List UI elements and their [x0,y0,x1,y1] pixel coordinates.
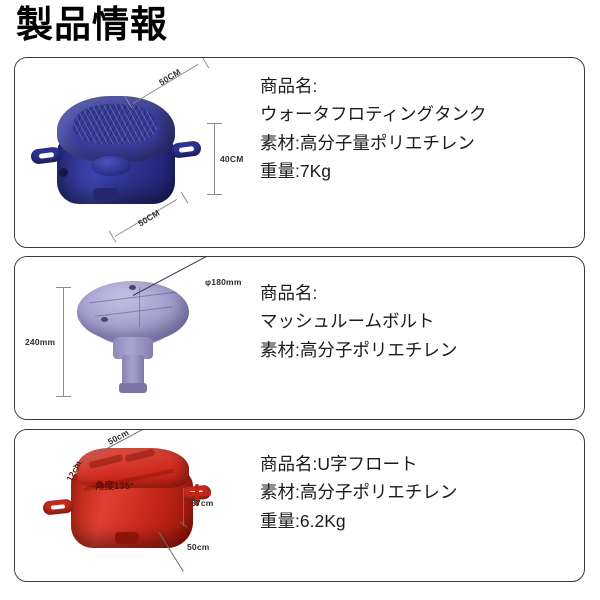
product-material-1: 素材:高分子量ポリエチレン [260,129,574,157]
tank-bottom-slot [93,188,119,201]
mushroom-bolt-illustration [77,273,207,403]
tank-side-hole [59,168,68,177]
u-float-side-dim-line [183,488,184,526]
water-floating-tank-illustration [43,96,193,214]
u-float-bottom-slot [115,532,139,544]
product-weight-3: 重量:6.2Kg [260,507,574,535]
u-float-lug-left [42,498,73,515]
product-name-value-1: ウォータフロティングタンク [260,100,574,128]
u-float-side-dim-label: 37cm [191,498,214,508]
tank-height-tick-bottom [207,194,222,195]
product-card-water-floating-tank: 50CM 40CM 50CM 商品名: ウォータフロティングタンク 素材:高分子… [14,57,585,248]
product-weight-1: 重量:7Kg [260,157,574,185]
product-name-3: 商品名:U字フロート [260,450,574,478]
tank-top-dim-label: 50CM [157,67,182,88]
product-name-value-2: マッシュルームボルト [260,307,574,335]
tank-height-dim-label: 40CM [220,154,243,164]
product-figure-u-float: 50cm 12cm 角度135° 37cm 50cm [15,430,258,581]
product-name-label-2: 商品名: [260,279,574,307]
u-float-depth-dim-label: 50cm [187,542,210,552]
mushroom-diameter-label: φ180mm [205,277,242,287]
mushroom-height-tick-bottom [56,396,71,397]
tank-lug-right [170,140,202,159]
tank-height-dim-line [214,123,215,195]
page-title: 製品情報 [16,4,168,47]
product-name-label-1: 商品名: [260,72,574,100]
product-figure-mushroom-bolt: φ180mm 240mm [15,257,258,419]
u-float-top-dim-label: 50cm [106,429,131,447]
product-card-mushroom-bolt: φ180mm 240mm 商品名: マッシュルームボルト 素材:高分子ポリエチレ… [14,256,585,420]
product-information-page: 製品情報 50CM 40CM [0,0,600,600]
product-material-2: 素材:高分子ポリエチレン [260,336,574,364]
tank-tread-pattern [73,104,157,144]
product-text-mushroom-bolt: 商品名: マッシュルームボルト 素材:高分子ポリエチレン [258,257,584,419]
mushroom-height-tick-top [56,287,71,288]
tank-height-tick-top [207,123,222,124]
mushroom-cap-line-3 [139,287,140,327]
tank-top-dim-tick-right [202,57,210,68]
mushroom-height-dim-line [63,287,64,397]
product-card-u-float: 50cm 12cm 角度135° 37cm 50cm 商品名:U字フロート 素材… [14,429,585,582]
mushroom-hole-left [101,317,108,322]
product-text-water-floating-tank: 商品名: ウォータフロティングタンク 素材:高分子量ポリエチレン 重量:7Kg [258,58,584,247]
tank-front-dimple [91,156,131,176]
mushroom-height-label: 240mm [25,337,55,347]
mushroom-hole-top [129,285,136,290]
u-float-angle-label: 角度135° [95,478,134,492]
mushroom-foot [119,383,147,393]
product-text-u-float: 商品名:U字フロート 素材:高分子ポリエチレン 重量:6.2Kg [258,430,584,581]
product-material-3: 素材:高分子ポリエチレン [260,478,574,506]
product-figure-water-floating-tank: 50CM 40CM 50CM [15,58,258,247]
